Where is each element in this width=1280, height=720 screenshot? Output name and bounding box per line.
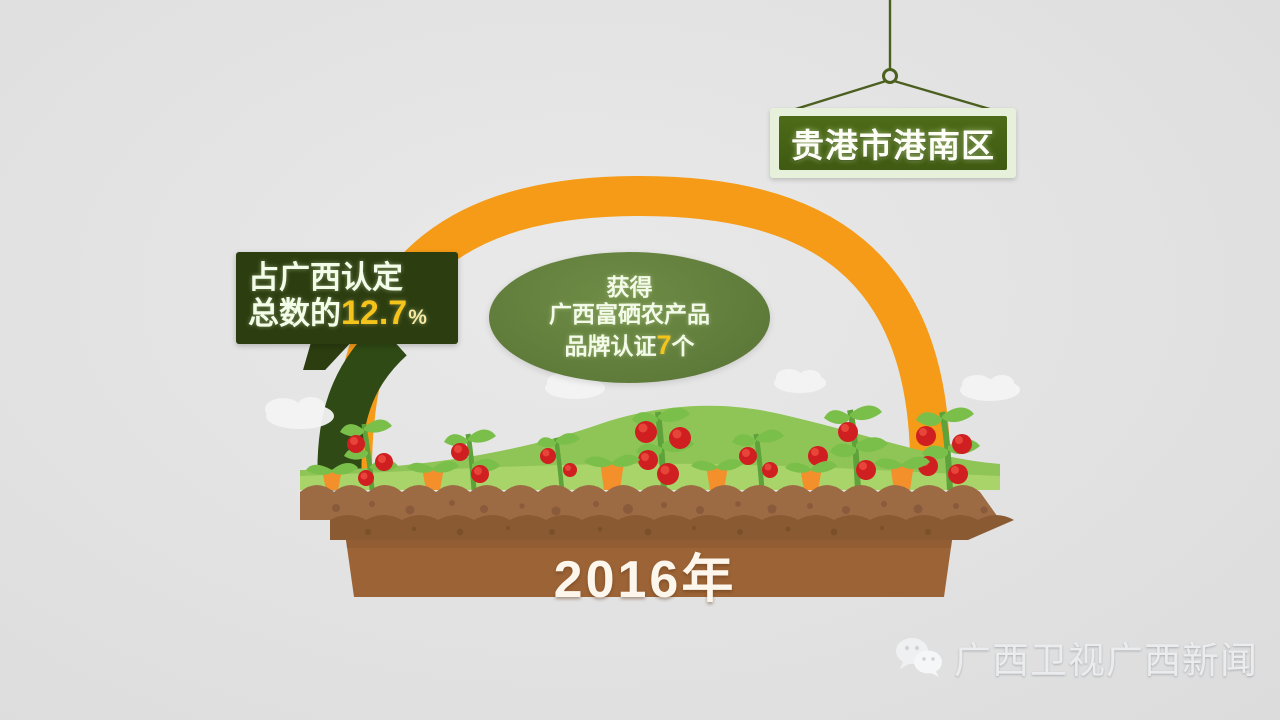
cloud-icon [960, 375, 1020, 401]
watermark-label: 广西卫视广西新闻 [954, 630, 1258, 684]
wechat-icon [894, 636, 944, 678]
callout-oval-line3-prefix: 品牌认证 [564, 333, 656, 361]
planter-box-lip [346, 540, 952, 548]
callout-oval-line2: 广西富硒农产品 [549, 301, 710, 329]
planter-box [346, 540, 952, 597]
callout-left-line2-prefix: 总数的 [248, 297, 341, 331]
cloud-icon [774, 369, 826, 393]
callout-left-percent-unit: % [408, 306, 427, 329]
callout-oval-count-value: 7 [656, 329, 671, 361]
infographic-canvas: 贵港市港南区 [0, 0, 1280, 720]
callout-oval-line3-suffix: 个 [672, 333, 695, 361]
callout-left-line2: 总数的 12.7 % [248, 295, 448, 332]
callout-oval-line1: 获得 [607, 274, 653, 302]
callout-oval[interactable]: 获得 广西富硒农产品 品牌认证 7 个 [489, 252, 770, 383]
callout-left-percent-value: 12.7 [341, 295, 407, 332]
soil-mid [330, 515, 1014, 540]
cloud-icon [265, 397, 334, 429]
callout-left-line1: 占广西认定 [248, 261, 448, 295]
callout-left[interactable]: 占广西认定 总数的 12.7 % [236, 252, 458, 344]
watermark: 广西卫视广西新闻 [894, 630, 1258, 684]
callout-oval-line3: 品牌认证 7 个 [564, 329, 694, 361]
